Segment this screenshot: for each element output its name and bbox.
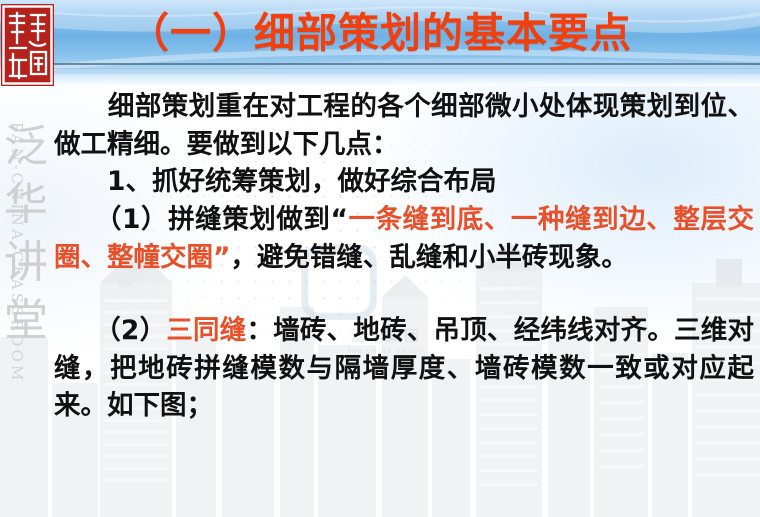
red-seal-stamp-icon [1, 4, 54, 86]
header-divider-line-light [40, 68, 760, 69]
paragraph-item-1-before: （1）拼缝策划做到“ [54, 204, 348, 235]
paragraph-item-2-highlight: 三同缝 [166, 315, 246, 346]
slide-root: 泛华集团 PAN CHINA GROUP （一）细部策划的基本要点 泛 华 讲 … [0, 0, 760, 517]
paragraph-intro-line1: 细部策划重在对工程的各个细部微小处体现 [54, 91, 620, 122]
paragraph-point-1-text: 1、抓好统筹策划，做好综合布局 [54, 166, 496, 197]
paragraph-item-1-after: ，避免错缝、乱缝和小半砖现象。 [230, 242, 628, 273]
paragraph-item-2: （2）三同缝：墙砖、地砖、吊顶、经纬线对齐。三维对缝，把地砖拼缝模数与隔墙厚度、… [54, 312, 754, 425]
header-divider-line [40, 63, 760, 65]
header-bottom-strip [0, 74, 760, 86]
slide-header: （一）细部策划的基本要点 [0, 0, 760, 86]
page-title: （一）细部策划的基本要点 [0, 5, 760, 61]
paragraph-point-1: 1、抓好统筹策划，做好综合布局 [54, 163, 754, 201]
paragraph-item-1: （1）拼缝策划做到“一条缝到底、一种缝到边、整层交圈、整幢交圈”，避免错缝、乱缝… [54, 201, 754, 276]
slide-body: 细部策划重在对工程的各个细部微小处体现策划到位、做工精细。要做到以下几点： 1、… [0, 88, 760, 508]
paragraph-intro: 细部策划重在对工程的各个细部微小处体现策划到位、做工精细。要做到以下几点： [54, 88, 754, 163]
paragraph-item-2-before: （2） [54, 315, 166, 346]
